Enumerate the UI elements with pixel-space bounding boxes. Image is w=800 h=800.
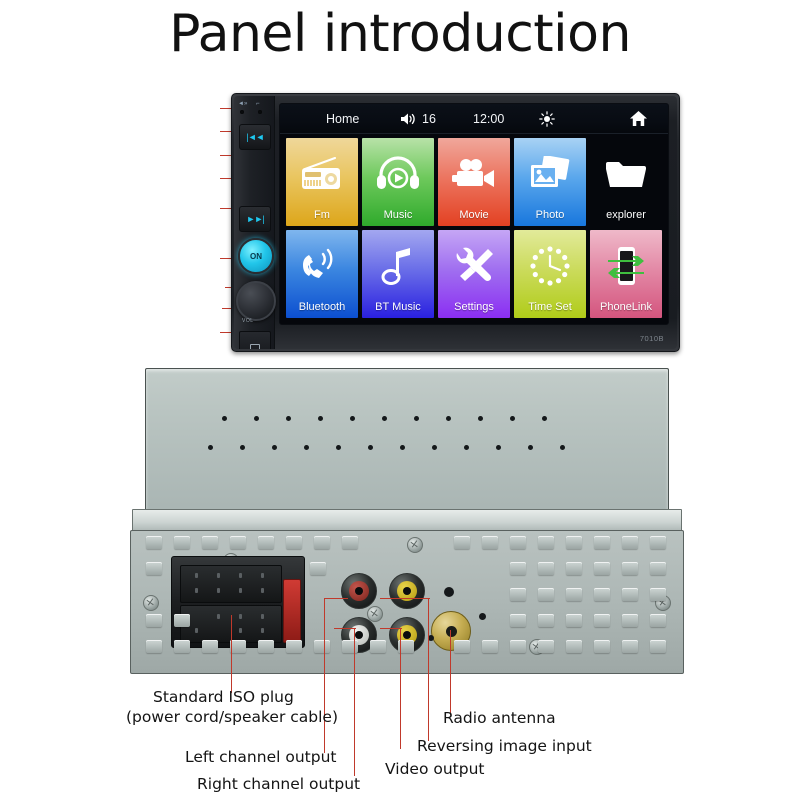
tile-label-movie: Movie — [459, 209, 488, 226]
tile-music[interactable]: Music — [362, 138, 434, 226]
vent-hole-row-2 — [208, 445, 565, 450]
speaker-icon — [400, 112, 417, 126]
power-button-label: ON — [250, 252, 262, 261]
clock-icon — [514, 236, 586, 296]
photos-icon — [514, 144, 586, 204]
screw-bottom-right — [529, 639, 545, 655]
rca-reversing-image-input[interactable] — [389, 573, 425, 609]
callout-left-channel-output: Left channel output — [185, 748, 336, 767]
mic-marking-icon: ◄» — [238, 101, 247, 107]
volume-marking-label: VOL — [242, 318, 254, 324]
tf-card-icon — [250, 344, 260, 350]
rca-video-output[interactable] — [389, 617, 425, 653]
next-track-button[interactable]: ►►| — [239, 206, 271, 232]
tile-fm[interactable]: Fm — [286, 138, 358, 226]
panel-hole-b — [479, 613, 486, 620]
rca-left-channel-output[interactable] — [341, 573, 377, 609]
movie-camera-icon — [438, 144, 510, 204]
tile-grid: Fm — [280, 133, 668, 324]
control-column: ◄» ⌐ |◄◄ ON ►►| VOL R — [234, 96, 275, 349]
tile-label-music: Music — [384, 209, 413, 226]
screw-top-center — [407, 537, 423, 553]
rear-connector-panel — [130, 530, 684, 674]
tile-row-1: Fm — [286, 138, 662, 226]
tile-label-fm: Fm — [314, 209, 330, 226]
tile-bt-music[interactable]: BT Music — [362, 230, 434, 318]
previous-track-button[interactable]: |◄◄ — [239, 124, 271, 150]
tile-label-time-set: Time Set — [528, 301, 572, 318]
callout-reversing-image-input: Reversing image input — [417, 737, 592, 756]
callout-iso-plug: Standard ISO plug — [153, 688, 294, 707]
next-track-icon: ►►| — [246, 215, 263, 224]
touchscreen[interactable]: Home 16 12:00 — [279, 103, 669, 325]
leader-right-channel-h — [334, 628, 356, 629]
tile-label-bluetooth: Bluetooth — [299, 301, 345, 318]
chassis-top-cover — [145, 368, 669, 514]
leader-reversing-input — [428, 598, 429, 741]
tile-row-2: Bluetooth BT Music — [286, 230, 662, 318]
mic-hole — [240, 110, 244, 114]
music-note-icon — [362, 236, 434, 296]
iso-plug-upper — [180, 565, 282, 603]
callout-video-output: Video output — [385, 760, 484, 779]
page-title: Panel introduction — [0, 4, 800, 64]
rca-right-channel-output[interactable] — [341, 617, 377, 653]
leader-reversing-input-h — [380, 598, 430, 599]
tile-label-bt-music: BT Music — [375, 301, 421, 318]
tile-bluetooth[interactable]: Bluetooth — [286, 230, 358, 318]
iso-connector-plug[interactable] — [171, 556, 305, 648]
tile-label-explorer: explorer — [606, 209, 646, 226]
tile-photo[interactable]: Photo — [514, 138, 586, 226]
leader-video-output — [400, 628, 401, 749]
tile-time-set[interactable]: Time Set — [514, 230, 586, 318]
status-home-label[interactable]: Home — [326, 112, 359, 126]
secondary-hole — [258, 110, 262, 114]
reset-marking-icon: ⌐ — [256, 101, 260, 107]
status-bar: Home 16 12:00 — [280, 104, 668, 134]
head-unit-front: ◄» ⌐ |◄◄ ON ►►| VOL R — [231, 93, 680, 352]
head-unit-bezel: ◄» ⌐ |◄◄ ON ►►| VOL R — [234, 96, 677, 349]
screw-left — [143, 595, 159, 611]
folder-icon — [590, 144, 662, 204]
callout-right-channel-output: Right channel output — [197, 775, 360, 794]
leader-video-output-h — [380, 628, 402, 629]
status-volume-level: 16 — [422, 112, 436, 126]
status-time[interactable]: 12:00 — [473, 112, 504, 126]
status-home-button[interactable] — [629, 110, 648, 127]
callout-iso-plug-sub: (power cord/speaker cable) — [126, 708, 338, 727]
tile-settings[interactable]: Settings — [438, 230, 510, 318]
status-volume[interactable]: 16 — [400, 112, 436, 126]
phone-call-icon — [286, 236, 358, 296]
panel-hole-a — [444, 587, 454, 597]
tf-card-slot[interactable] — [239, 331, 271, 349]
phonelink-icon — [590, 236, 662, 296]
vent-hole-row-1 — [222, 416, 547, 421]
headphones-play-icon — [362, 144, 434, 204]
leader-left-channel — [324, 598, 325, 753]
tile-explorer[interactable]: explorer — [590, 138, 662, 226]
status-brightness[interactable] — [539, 111, 555, 127]
previous-track-icon: |◄◄ — [246, 133, 263, 142]
home-icon — [629, 110, 648, 127]
fuse — [283, 579, 301, 643]
wrench-screwdriver-icon — [438, 236, 510, 296]
callout-radio-antenna: Radio antenna — [443, 709, 556, 728]
leader-iso-plug — [231, 615, 232, 693]
leader-right-channel — [354, 628, 355, 776]
tile-label-phonelink: PhoneLink — [600, 301, 652, 318]
volume-knob[interactable] — [236, 281, 276, 321]
page-root: Panel introduction MIC hole previous tra… — [0, 0, 800, 800]
tile-label-settings: Settings — [454, 301, 494, 318]
model-number: 7010B — [640, 334, 664, 343]
leader-radio-antenna — [450, 630, 451, 715]
leader-left-channel-h — [324, 598, 348, 599]
brightness-icon — [539, 111, 555, 127]
tile-movie[interactable]: Movie — [438, 138, 510, 226]
radio-icon — [286, 144, 358, 204]
tile-phonelink[interactable]: PhoneLink — [590, 230, 662, 318]
tile-label-photo: Photo — [536, 209, 565, 226]
screw-right — [655, 595, 671, 611]
power-mode-button[interactable]: ON — [238, 238, 274, 274]
